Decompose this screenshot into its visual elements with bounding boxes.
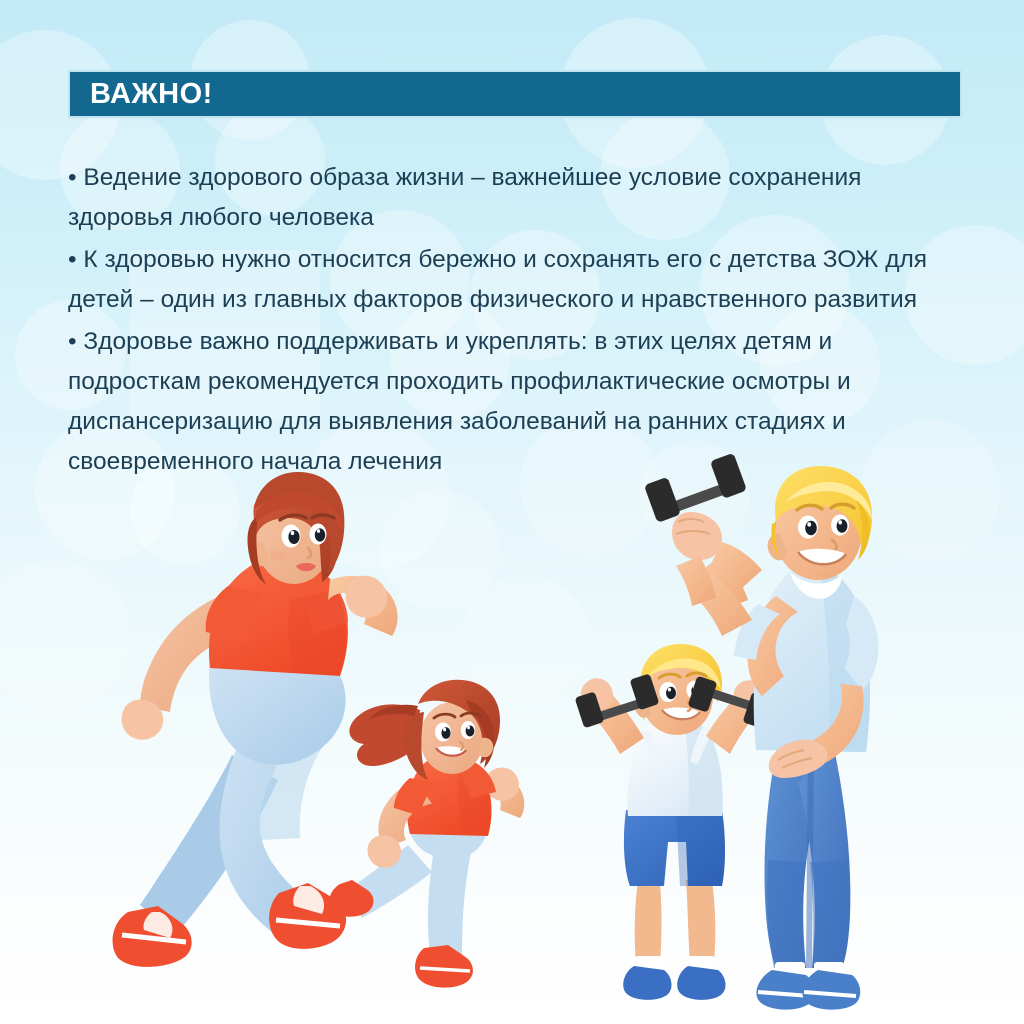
bullet-item: • Здоровье важно поддерживать и укреплят…: [68, 322, 968, 482]
background-pattern: [0, 0, 1024, 1024]
illustration: [0, 0, 1024, 1024]
poster-root: ВАЖНО! • Ведение здорового образа жизни …: [0, 0, 1024, 1024]
figure-boy-with-dumbbells: [575, 644, 773, 1000]
figure-running-woman: [113, 472, 398, 967]
header-bar: ВАЖНО!: [68, 70, 962, 118]
body-text: • Ведение здорового образа жизни – важне…: [68, 158, 968, 484]
figure-running-girl: [329, 680, 524, 988]
dumbbell-icon: [575, 673, 660, 728]
page-title: ВАЖНО!: [70, 80, 213, 109]
bullet-item: • К здоровью нужно относится бережно и с…: [68, 240, 968, 320]
dumbbell-icon: [688, 676, 773, 729]
figure-man-with-dumbbell: [644, 453, 878, 1010]
bullet-item: • Ведение здорового образа жизни – важне…: [68, 158, 968, 238]
